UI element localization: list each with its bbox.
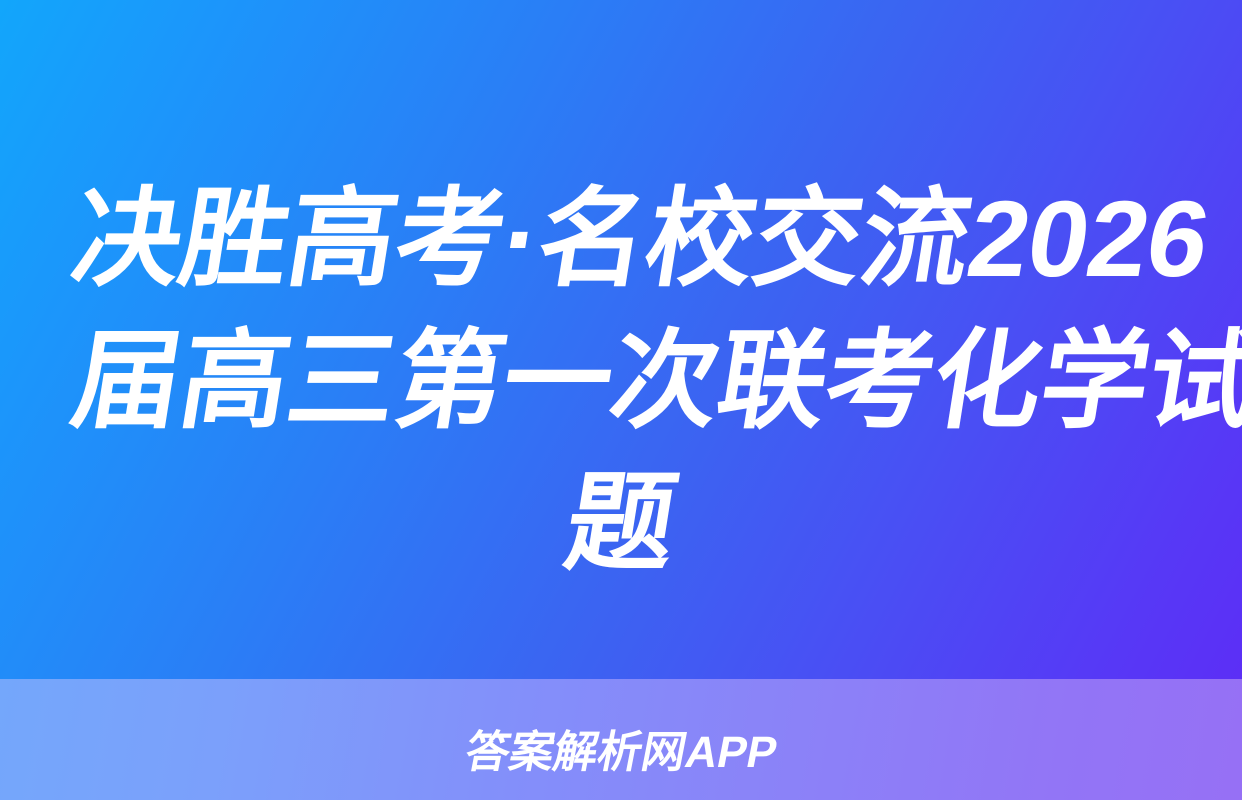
page-title-line-3: 题 xyxy=(63,452,1179,594)
footer-band: 答案解析网APP xyxy=(0,679,1242,800)
app-watermark: 答案解析网APP xyxy=(461,727,782,779)
page-title-line-1: 决胜高考·名校交流2026 xyxy=(63,168,1179,310)
exam-cover-banner: 决胜高考·名校交流2026 届高三第一次联考化学试 题 答案解析网APP xyxy=(0,0,1242,800)
title-block: 决胜高考·名校交流2026 届高三第一次联考化学试 题 xyxy=(0,168,1242,628)
page-title-line-2: 届高三第一次联考化学试 xyxy=(63,310,1179,452)
